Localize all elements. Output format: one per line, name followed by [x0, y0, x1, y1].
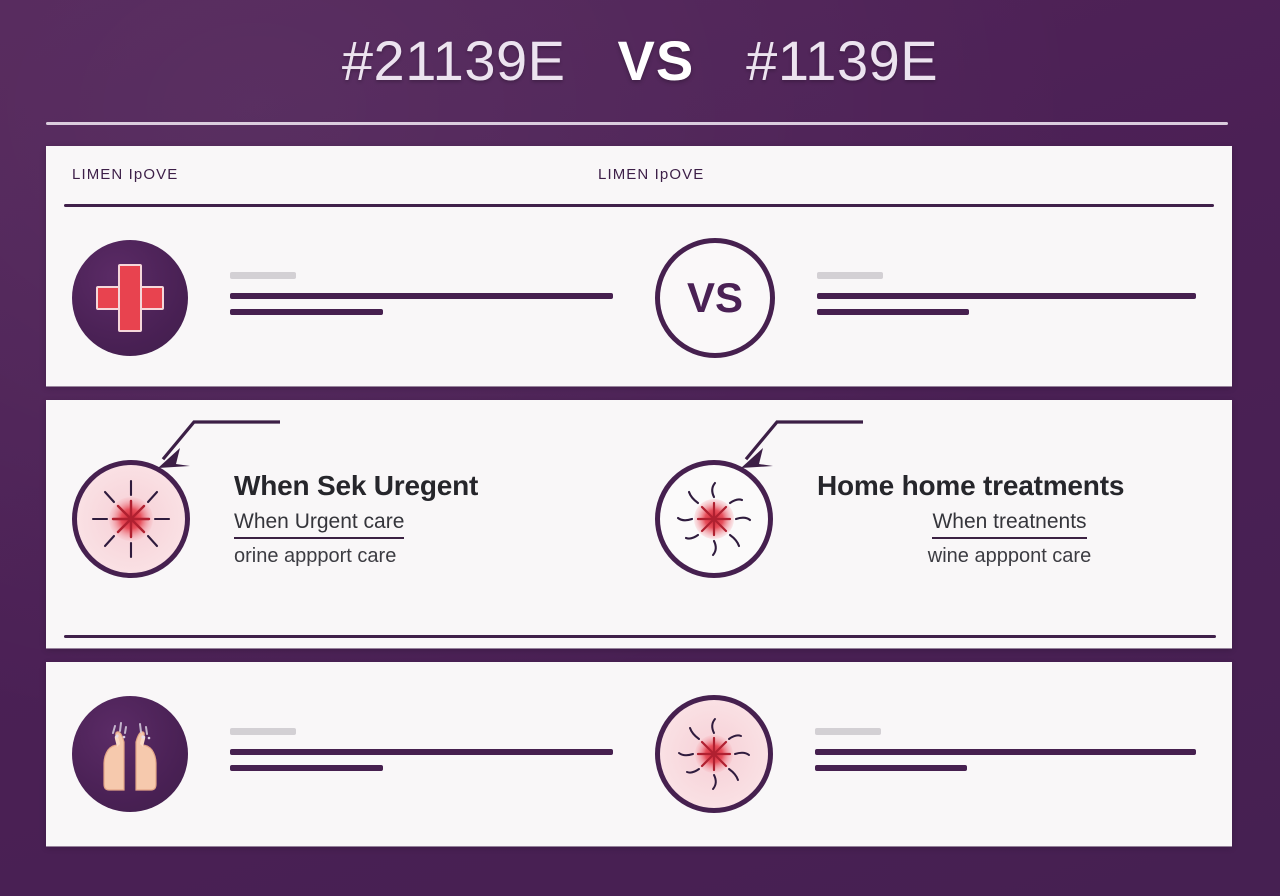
- medical-cross-icon: [72, 240, 188, 356]
- placeholder-bar-long: [230, 293, 613, 299]
- card1-label-row: LIMEN IpOVE LIMEN IpOVE: [46, 146, 1232, 208]
- cross-glyph: [96, 264, 164, 332]
- card3-left-placeholder-bars: [230, 728, 649, 781]
- card2-left-subtitle-wrap: When Urgent care: [234, 510, 404, 539]
- placeholder-bar-short: [817, 272, 883, 279]
- card2-right-textblock: Home home treatments When treatnents win…: [817, 470, 1232, 568]
- card2-left-column: When Sek Uregent When Urgent care orine …: [46, 434, 649, 604]
- card3-right-icon-wrap: [655, 695, 773, 813]
- comparison-card-2[interactable]: When Sek Uregent When Urgent care orine …: [46, 400, 1232, 648]
- hands-glyph: [84, 708, 176, 800]
- germ-white-icon: [655, 460, 773, 578]
- placeholder-bar-medium: [230, 309, 383, 315]
- card1-left-placeholder-bars: [230, 272, 649, 325]
- placeholder-bar-medium: [817, 309, 969, 315]
- card2-left-subtitle: When Urgent care: [234, 510, 404, 533]
- placeholder-bar-short: [230, 272, 296, 279]
- vs-label: VS: [617, 28, 694, 93]
- card1-right-column: VS: [649, 218, 1232, 378]
- right-hex-code: #1139E: [746, 28, 938, 93]
- card2-left-note: orine appport care: [234, 545, 619, 568]
- germ-burst-glyph: [668, 708, 760, 800]
- placeholder-bar-short: [815, 728, 881, 735]
- vs-badge-label: VS: [687, 277, 743, 319]
- placeholder-bar-medium: [815, 765, 967, 771]
- card1-right-placeholder-bars: [817, 272, 1232, 325]
- comparison-card-3[interactable]: [46, 662, 1232, 846]
- card2-right-subtitle-wrap: When treatnents: [932, 510, 1086, 539]
- card2-left-title: When Sek Uregent: [234, 470, 619, 502]
- card2-right-column: Home home treatments When treatnents win…: [649, 434, 1232, 604]
- comparison-card-1[interactable]: LIMEN IpOVE LIMEN IpOVE: [46, 146, 1232, 386]
- card3-columns: [46, 678, 1232, 830]
- placeholder-bar-long: [815, 749, 1196, 755]
- card2-columns: When Sek Uregent When Urgent care orine …: [46, 434, 1232, 604]
- card1-left-column: [46, 218, 649, 378]
- card2-bottom-divider: [64, 635, 1216, 638]
- header-title-row: #21139E VS #1139E: [0, 28, 1280, 93]
- card1-right-column-label: LIMEN IpOVE: [598, 166, 704, 183]
- washing-hands-icon: [72, 696, 188, 812]
- card3-left-column: [46, 678, 649, 830]
- placeholder-bar-long: [817, 293, 1196, 299]
- card3-right-placeholder-bars: [815, 728, 1232, 781]
- placeholder-bar-long: [230, 749, 613, 755]
- germ-burst-glyph: [668, 473, 760, 565]
- header-divider: [46, 122, 1228, 125]
- germ-pink-icon: [72, 460, 190, 578]
- placeholder-bar-medium: [230, 765, 383, 771]
- card3-left-icon-wrap: [72, 696, 188, 812]
- card2-right-note: wine apppont care: [817, 545, 1202, 568]
- left-hex-code: #21139E: [342, 28, 566, 93]
- card1-left-icon-wrap: [72, 240, 188, 356]
- cross-bar-vertical: [118, 264, 142, 332]
- germ-pink-icon: [655, 695, 773, 813]
- card2-right-icon-wrap: [655, 460, 773, 578]
- card1-label-underline: [64, 204, 1214, 207]
- placeholder-bar-short: [230, 728, 296, 735]
- card1-columns: VS: [46, 218, 1232, 378]
- card1-right-icon-wrap: VS: [655, 238, 775, 358]
- card1-left-column-label: LIMEN IpOVE: [72, 166, 178, 183]
- card3-right-column: [649, 678, 1232, 830]
- vs-badge-icon: VS: [655, 238, 775, 358]
- card2-right-subtitle: When treatnents: [932, 510, 1086, 533]
- card2-right-title: Home home treatments: [817, 470, 1202, 502]
- card2-left-icon-wrap: [72, 460, 190, 578]
- germ-burst-glyph: [85, 473, 177, 565]
- page-header: #21139E VS #1139E: [0, 0, 1280, 126]
- card2-left-textblock: When Sek Uregent When Urgent care orine …: [234, 470, 649, 568]
- infographic-page: #21139E VS #1139E LIMEN IpOVE LIMEN IpOV…: [0, 0, 1280, 896]
